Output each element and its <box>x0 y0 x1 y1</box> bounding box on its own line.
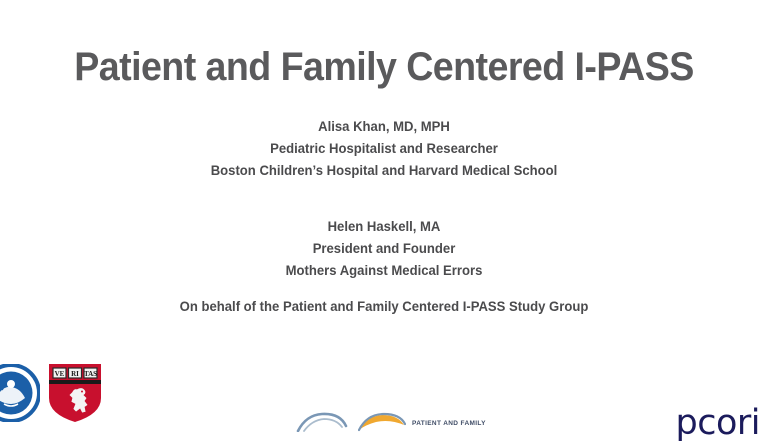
svg-text:TAS: TAS <box>84 370 97 378</box>
speaker-one-role: Pediatric Hospitalist and Researcher <box>12 138 757 160</box>
presentation-slide: Patient and Family Centered I-PASS Alisa… <box>0 0 768 432</box>
pcori-wordmark: pcori <box>676 403 761 443</box>
study-group-line: On behalf of the Patient and Family Cent… <box>12 296 757 318</box>
speaker-two-affiliation: Mothers Against Medical Errors <box>12 260 757 282</box>
patient-and-family-wordmark: PATIENT AND FAMILY <box>412 420 486 427</box>
speaker-two-name: Helen Haskell, MA <box>12 216 757 238</box>
speaker-one-affiliation: Boston Children’s Hospital and Harvard M… <box>12 160 757 182</box>
speaker-two-block: Helen Haskell, MA President and Founder … <box>12 216 757 282</box>
svg-text:VE: VE <box>55 370 65 378</box>
harvard-medical-school-shield-icon: VE RI TAS <box>47 362 103 424</box>
swoosh-gold-icon <box>358 410 406 432</box>
slide-title: Patient and Family Centered I-PASS <box>23 46 745 88</box>
logo-strip: VE RI TAS PATIENT AND FAMILY pcori <box>0 356 768 432</box>
speaker-one-name: Alisa Khan, MD, MPH <box>12 116 757 138</box>
study-group-block: On behalf of the Patient and Family Cent… <box>12 296 757 318</box>
swoosh-blue-icon <box>296 410 348 432</box>
patient-and-family-logo: PATIENT AND FAMILY <box>296 408 506 432</box>
speaker-two-role: President and Founder <box>12 238 757 260</box>
speaker-one-block: Alisa Khan, MD, MPH Pediatric Hospitalis… <box>12 116 757 182</box>
svg-text:RI: RI <box>71 370 79 378</box>
boston-childrens-hospital-seal-icon <box>0 364 40 422</box>
